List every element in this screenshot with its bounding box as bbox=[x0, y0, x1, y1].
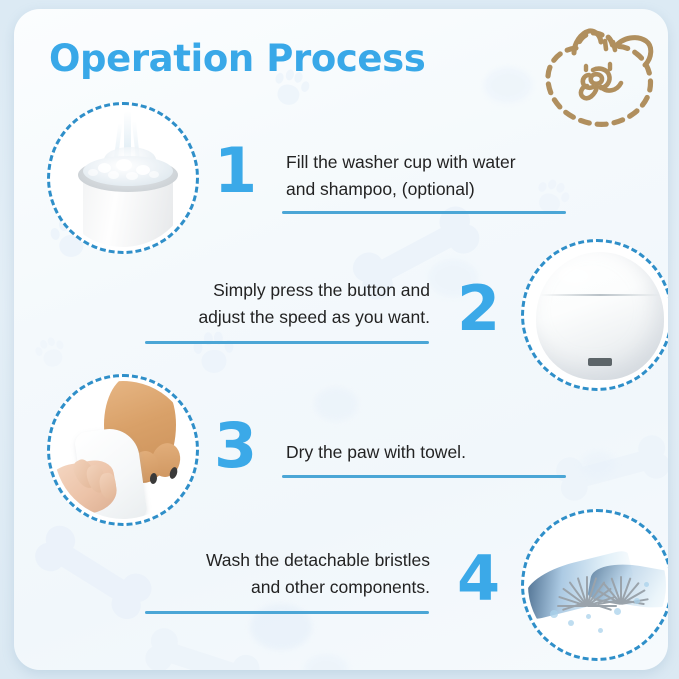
step-4-caption: Wash the detachable bristles and other c… bbox=[135, 547, 430, 601]
content-card: Operation Process bbox=[14, 9, 668, 670]
paw-print-watermark bbox=[31, 333, 71, 375]
hand-drying-dog-paw-with-towel-image bbox=[54, 381, 192, 519]
step-1-caption-line: Fill the washer cup with water bbox=[286, 149, 516, 176]
soft-blob-watermark bbox=[314, 387, 358, 421]
water-droplet bbox=[568, 620, 574, 626]
water-droplet bbox=[586, 614, 591, 619]
device-seam-line bbox=[540, 294, 660, 296]
step-2-caption: Simply press the button and adjust the s… bbox=[135, 277, 430, 331]
foam-bubble bbox=[108, 171, 119, 179]
step-3-underline bbox=[282, 475, 566, 478]
step-1-underline bbox=[282, 211, 566, 214]
bone-watermark bbox=[133, 606, 272, 670]
water-droplet bbox=[644, 582, 649, 587]
soft-blob-watermark bbox=[580, 451, 616, 479]
foam-bubble bbox=[126, 172, 138, 180]
step-1-number: 1 bbox=[214, 140, 256, 202]
paw-washer-device-body-image bbox=[528, 246, 666, 384]
step-4-underline bbox=[145, 611, 429, 614]
dog-face-logo bbox=[527, 23, 668, 133]
soft-blob-watermark bbox=[304, 654, 348, 670]
paw-print-watermark bbox=[528, 174, 574, 222]
dog-claw bbox=[149, 473, 157, 485]
water-droplet bbox=[598, 628, 603, 633]
foam-bubble bbox=[88, 169, 98, 176]
foam-bubble bbox=[136, 165, 150, 175]
washer-cup-filling-with-water-image bbox=[54, 109, 192, 247]
step-3-caption-line: Dry the paw with towel. bbox=[286, 439, 466, 466]
step-2-image-circle bbox=[521, 239, 668, 391]
foam-bubble bbox=[116, 159, 132, 171]
soft-blob-watermark bbox=[484, 67, 532, 103]
step-1-caption-line: and shampoo, (optional) bbox=[286, 176, 516, 203]
step-2-caption-line: adjust the speed as you want. bbox=[135, 304, 430, 331]
step-3-image-circle bbox=[47, 374, 199, 526]
washing-silicone-bristles-image bbox=[528, 516, 666, 654]
step-4-caption-line: Wash the detachable bristles bbox=[135, 547, 430, 574]
step-3-caption: Dry the paw with towel. bbox=[286, 439, 466, 466]
device-highlight bbox=[558, 266, 592, 286]
paw-print-watermark bbox=[190, 330, 235, 379]
step-1-image-circle bbox=[47, 102, 199, 254]
step-2-number: 2 bbox=[457, 278, 499, 340]
water-droplet bbox=[614, 608, 621, 615]
step-4-image-circle bbox=[521, 509, 668, 661]
water-droplet bbox=[634, 598, 640, 604]
foam-bubble bbox=[149, 171, 159, 178]
bristle-cluster bbox=[592, 544, 652, 604]
bone-watermark bbox=[546, 415, 668, 521]
water-droplet bbox=[550, 610, 558, 618]
step-2-underline bbox=[145, 341, 429, 344]
step-2-caption-line: Simply press the button and bbox=[135, 277, 430, 304]
step-4-caption-line: and other components. bbox=[135, 574, 430, 601]
step-4-number: 4 bbox=[457, 548, 499, 610]
step-3-number: 3 bbox=[214, 415, 256, 477]
device-power-button[interactable] bbox=[588, 358, 612, 366]
infographic-stage: Operation Process bbox=[0, 0, 679, 679]
page-title: Operation Process bbox=[49, 37, 425, 80]
step-1-caption: Fill the washer cup with water and shamp… bbox=[286, 149, 516, 203]
